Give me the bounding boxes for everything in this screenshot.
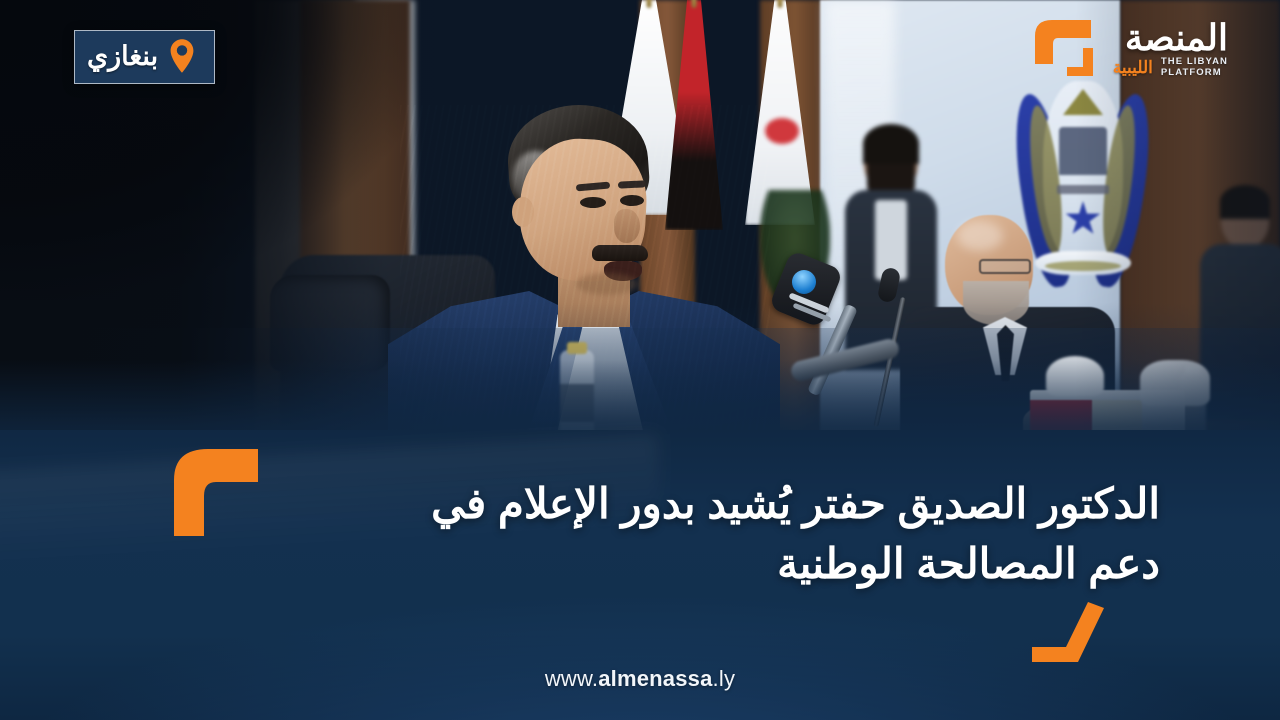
site-logo[interactable]: المنصة THE LIBYAN PLATFORM الليبية — [1031, 14, 1228, 82]
headline-line-2: دعم المصالحة الوطنية — [60, 534, 1160, 594]
logo-arabic-name: المنصة — [1113, 20, 1228, 55]
headline-line-1: الدكتور الصديق حفتر يُشيد بدور الإعلام ف… — [60, 474, 1160, 534]
location-badge[interactable]: بنغازي — [74, 30, 215, 84]
logo-wordmark: المنصة THE LIBYAN PLATFORM الليبية — [1113, 14, 1228, 79]
url-name: almenassa — [598, 666, 712, 691]
almenassa-bracket-mark-icon — [1031, 14, 1103, 82]
website-url[interactable]: www.almenassa.ly — [0, 666, 1280, 692]
location-label: بنغازي — [87, 43, 158, 70]
orange-angle-bracket-icon — [1026, 600, 1110, 671]
url-prefix: www. — [545, 666, 598, 691]
url-tld: .ly — [713, 666, 736, 691]
logo-english-name: THE LIBYAN PLATFORM — [1161, 57, 1228, 78]
headline: الدكتور الصديق حفتر يُشيد بدور الإعلام ف… — [60, 474, 1160, 593]
news-graphic-card: بنغازي المنصة THE LIBYAN PLATFORM الليبي… — [0, 0, 1280, 720]
map-pin-icon — [168, 38, 196, 74]
logo-arabic-subtitle: الليبية — [1113, 59, 1153, 76]
